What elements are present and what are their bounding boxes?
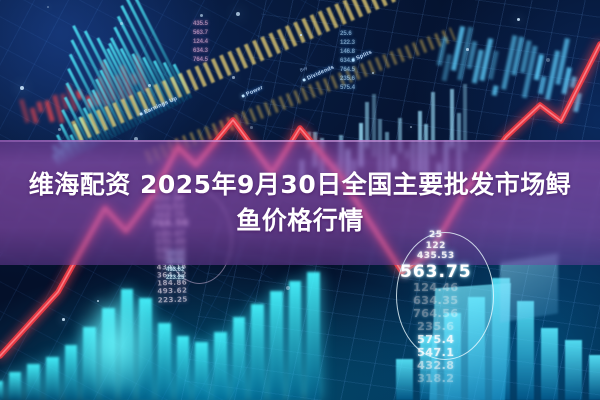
marker-dot-icon: [241, 94, 245, 98]
ticker-value: 223.25: [154, 295, 192, 305]
sparkle-dot: [250, 126, 253, 129]
ticker-value: 432.8: [400, 360, 472, 373]
sparkle-dot: [410, 126, 412, 128]
ticker-value: 563.7: [193, 29, 208, 38]
ticker-stream-left: 435.5563.7124.4634.3764.5: [193, 20, 208, 65]
sparkle-dot: [372, 72, 374, 74]
ticker-stream-center: 25.6122.3146.8634.3764.5235.6575.4: [340, 30, 355, 93]
marker-dot-icon: [302, 78, 306, 82]
page-title-line-2: 鱼价格行情: [236, 205, 364, 236]
sparkle-dot: [62, 318, 65, 321]
sparkle-dot: [300, 34, 302, 36]
banner-image: Earnings Up Power Dividends Buy Splits 2…: [0, 0, 600, 400]
ticker-value: 764.56: [400, 308, 472, 321]
ticker-value: 764.5: [340, 66, 355, 75]
ticker-value: 634.3: [340, 57, 355, 66]
ticker-value: 318.2: [400, 373, 472, 386]
sparkle-dot: [466, 48, 469, 51]
ticker-value: 235.6: [400, 321, 472, 334]
ticker-value: 146.8: [340, 48, 355, 57]
ticker-value: 25.6: [340, 30, 355, 39]
ticker-value: 435.5: [193, 20, 208, 29]
sparkle-dot: [47, 6, 49, 8]
ticker-value: 634.3: [193, 47, 208, 56]
ticker-value: 235.6: [340, 75, 355, 84]
ticker-value: 223.25: [166, 274, 184, 282]
ticker-value: 634.35: [400, 295, 472, 308]
sparkle-dot: [97, 300, 99, 302]
ticker-value: 124.4: [193, 38, 208, 47]
ticker-value: 124.46: [400, 282, 472, 295]
ticker-value: 575.4: [400, 334, 472, 347]
ticker-value: 122.3: [340, 39, 355, 48]
sparkle-dot: [120, 22, 123, 25]
sparkle-dot: [232, 76, 235, 79]
page-title: 维海配资 2025年9月30日全国主要批发市场鲟 鱼价格行情: [0, 140, 600, 265]
ticker-value: 493.62: [166, 266, 184, 274]
ticker-value: 764.5: [193, 56, 208, 65]
ticker-value: 575.4: [340, 84, 355, 93]
ticker-value: 547.1: [400, 347, 472, 360]
page-title-line-1: 维海配资 2025年9月30日全国主要批发市场鲟: [29, 169, 571, 200]
marker-dot-icon: [139, 112, 143, 116]
